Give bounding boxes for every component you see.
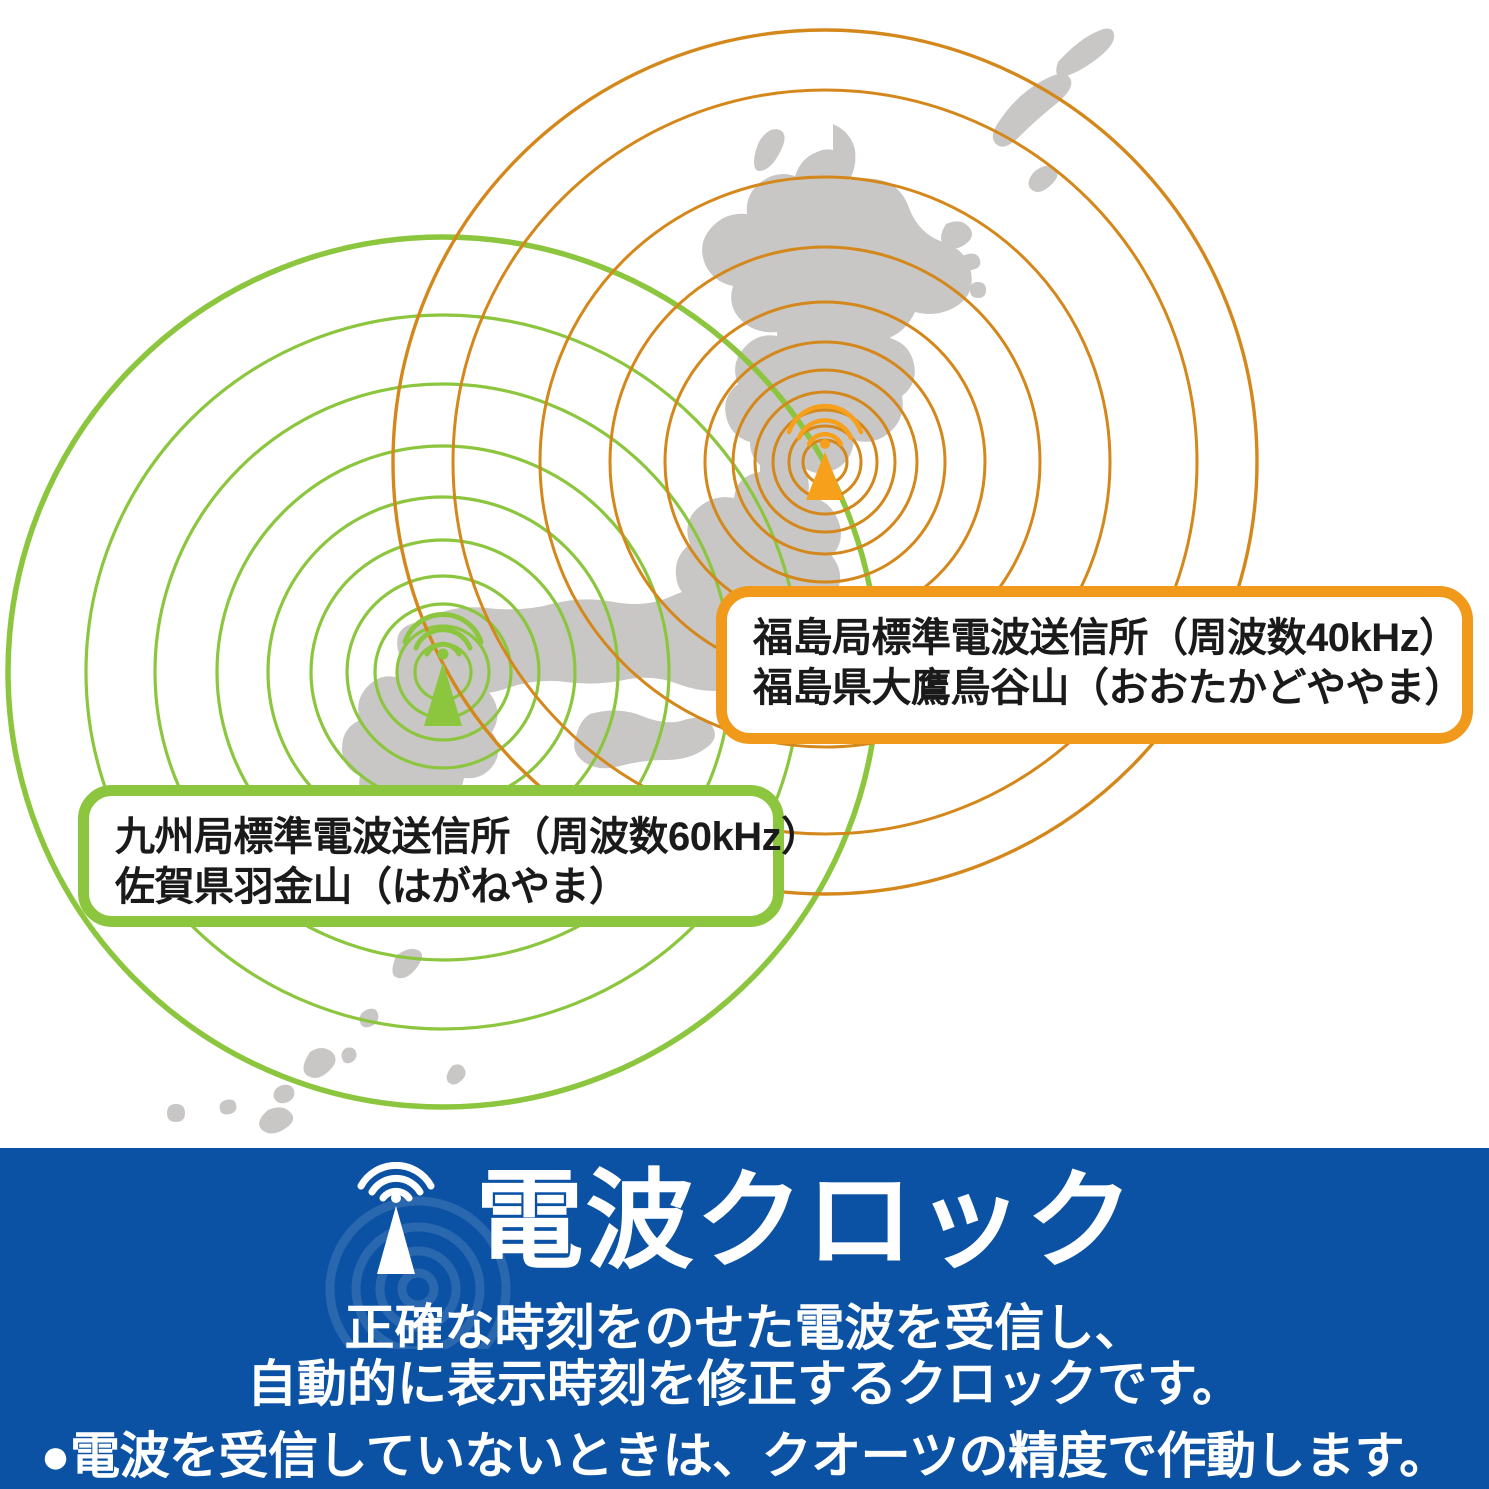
- radio-clock-infographic: 福島局標準電波送信所（周波数40kHz） 福島県大鷹鳥谷山（おおたかどややま） …: [0, 0, 1489, 1489]
- fukushima-transmitter-callout[interactable]: 福島局標準電波送信所（周波数40kHz） 福島県大鷹鳥谷山（おおたかどややま）: [716, 586, 1473, 744]
- radio-clock-banner: 電波クロック 正確な時刻をのせた電波を受信し、 自動的に表示時刻を修正するクロッ…: [0, 1148, 1489, 1489]
- kyushu-callout-line-2: 佐賀県羽金山（はがねやま）: [115, 862, 747, 912]
- banner-note: ●電波を受信していないときは、クオーツの精度で作動します。: [0, 1416, 1489, 1488]
- banner-description-line-2: 自動的に表示時刻を修正するクロックです。: [0, 1344, 1489, 1416]
- radio-tower-icon: [353, 1162, 439, 1280]
- japan-coverage-map: 福島局標準電波送信所（周波数40kHz） 福島県大鷹鳥谷山（おおたかどややま） …: [0, 0, 1489, 1148]
- kyushu-transmitter-callout[interactable]: 九州局標準電波送信所（周波数60kHz） 佐賀県羽金山（はがねやま）: [78, 785, 784, 927]
- kyushu-callout-line-1: 九州局標準電波送信所（周波数60kHz）: [115, 812, 747, 862]
- banner-title-row: 電波クロック: [0, 1162, 1489, 1280]
- fukushima-callout-line-2: 福島県大鷹鳥谷山（おおたかどややま）: [753, 663, 1436, 713]
- banner-title: 電波クロック: [475, 1167, 1135, 1275]
- fukushima-callout-line-1: 福島局標準電波送信所（周波数40kHz）: [753, 613, 1436, 663]
- map-graphic: [0, 0, 1489, 1148]
